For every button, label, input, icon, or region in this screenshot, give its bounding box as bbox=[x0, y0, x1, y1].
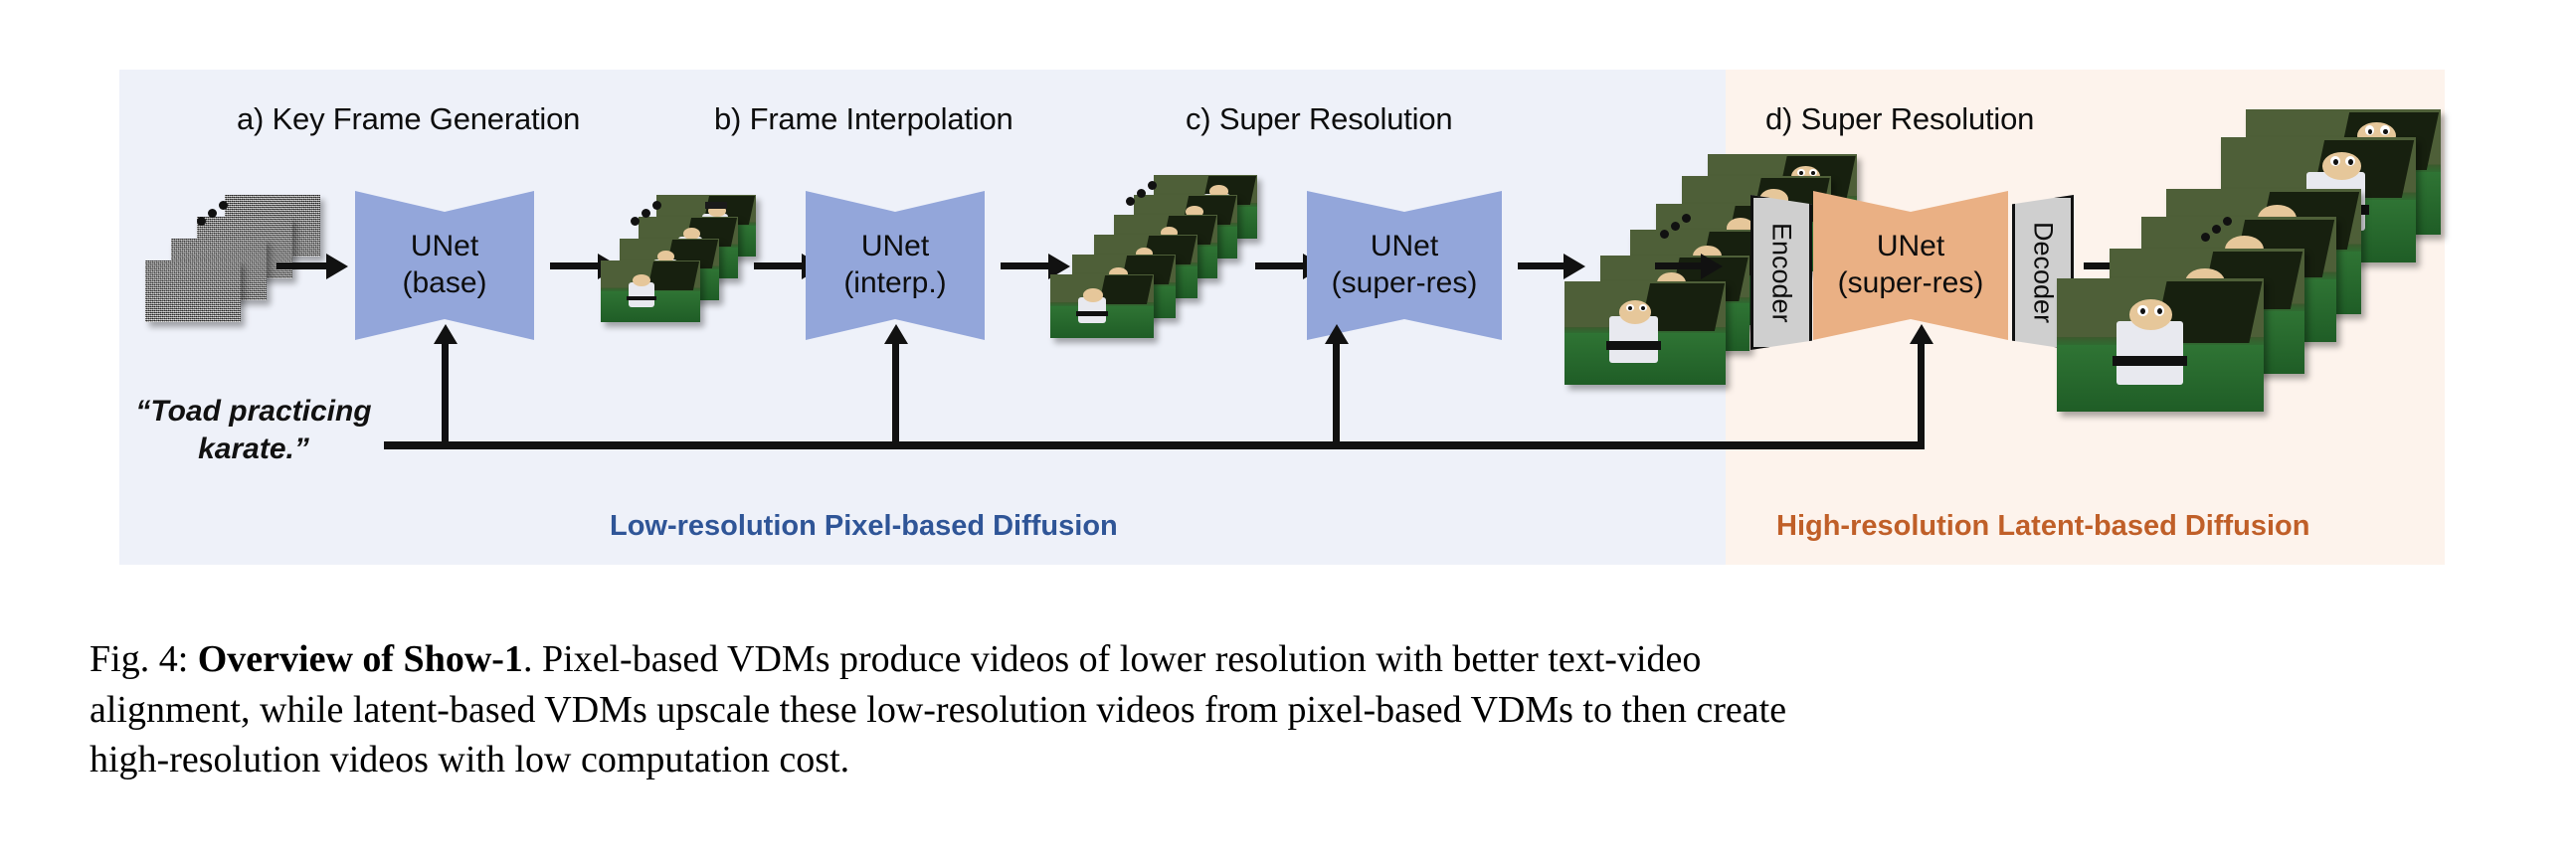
ellipsis-dots bbox=[2201, 217, 2231, 241]
caption-line1-rest: . Pixel-based VDMs produce videos of low… bbox=[523, 638, 1701, 680]
arrow-unetinterp-to-interpframes bbox=[1001, 262, 1050, 269]
arrow-prompt-to-unet-interp bbox=[892, 342, 899, 445]
section-caption-pixel: Low-resolution Pixel-based Diffusion bbox=[610, 510, 1118, 543]
arrow-keyframes-to-unet-interp bbox=[754, 262, 804, 269]
video-frame bbox=[1564, 281, 1726, 385]
caption-bold-title: Overview of Show-1 bbox=[198, 638, 523, 680]
module-decoder-label: Decoder bbox=[2028, 222, 2059, 323]
module-unet-superres-latent-label: UNet (super-res) bbox=[1838, 229, 1984, 301]
module-encoder-label: Encoder bbox=[1766, 223, 1797, 323]
prompt-conditioning-bus bbox=[384, 441, 1925, 449]
arrow-prompt-to-unet-base bbox=[442, 342, 449, 445]
text-prompt: “Toad practicing karate.” bbox=[119, 393, 388, 467]
ellipsis-dots bbox=[197, 201, 227, 225]
figure-root: a) Key Frame Generation b) Frame Interpo… bbox=[0, 0, 2576, 865]
stage-title-a: a) Key Frame Generation bbox=[237, 101, 580, 137]
module-unet-base[interactable]: UNet (base) bbox=[355, 191, 534, 340]
caption-line-2: alignment, while latent-based VDMs upsca… bbox=[90, 685, 2486, 736]
arrow-noise-to-unet-base bbox=[276, 262, 328, 269]
stage-title-b: b) Frame Interpolation bbox=[714, 101, 1013, 137]
arrow-prompt-to-unet-superres bbox=[1333, 342, 1340, 445]
karate-scene bbox=[601, 260, 700, 322]
module-unet-interp[interactable]: UNet (interp.) bbox=[806, 191, 985, 340]
caption-prefix: Fig. 4: bbox=[90, 638, 198, 680]
video-frame bbox=[601, 260, 700, 322]
module-unet-superres-pixel-label: UNet (super-res) bbox=[1332, 229, 1478, 301]
video-frame bbox=[1050, 274, 1154, 338]
ellipsis-dots bbox=[1660, 214, 1690, 238]
arrow-interpframes-to-unet-superres bbox=[1255, 262, 1305, 269]
ellipsis-dots bbox=[1126, 181, 1156, 205]
keyframe-stack bbox=[601, 195, 785, 354]
interpolated-frame-stack bbox=[1050, 175, 1289, 364]
arrow-prompt-to-unet-latent bbox=[1918, 342, 1925, 445]
module-unet-superres-pixel[interactable]: UNet (super-res) bbox=[1307, 191, 1502, 340]
video-frame bbox=[2057, 278, 2264, 412]
module-encoder[interactable]: Encoder bbox=[1750, 195, 1812, 350]
module-unet-superres-latent[interactable]: UNet (super-res) bbox=[1813, 191, 2008, 340]
stage-title-d: d) Super Resolution bbox=[1765, 101, 2034, 137]
section-caption-latent: High-resolution Latent-based Diffusion bbox=[1776, 510, 2310, 543]
arrow-unetsuperres-to-lowresvideo bbox=[1518, 262, 1565, 269]
noise-frame bbox=[145, 260, 241, 322]
noise-frame-stack bbox=[145, 195, 339, 344]
arrow-unetbase-to-keyframes bbox=[550, 262, 600, 269]
stage-title-c: c) Super Resolution bbox=[1186, 101, 1452, 137]
module-unet-base-label: UNet (base) bbox=[402, 229, 486, 301]
ellipsis-dots bbox=[631, 201, 660, 225]
highres-output-stack bbox=[2057, 109, 2475, 408]
figure-caption: Fig. 4: Overview of Show-1. Pixel-based … bbox=[90, 634, 2486, 785]
arrow-lowres-to-encoder bbox=[1655, 262, 1703, 269]
module-unet-interp-label: UNet (interp.) bbox=[843, 229, 946, 301]
caption-line-3: high-resolution videos with low computat… bbox=[90, 735, 2486, 785]
caption-line-1: Fig. 4: Overview of Show-1. Pixel-based … bbox=[90, 634, 2486, 685]
